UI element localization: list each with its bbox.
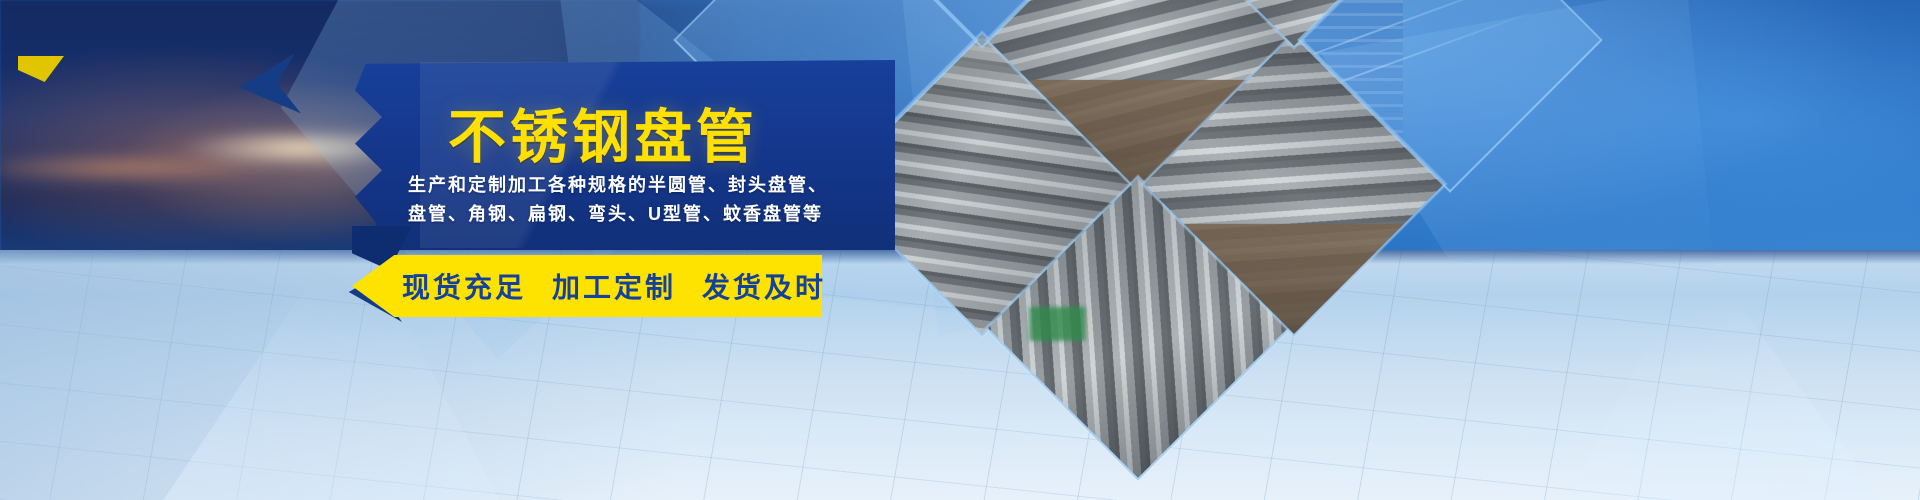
promo-banner: 不锈钢盘管 生产和定制加工各种规格的半圆管、封头盘管、 盘管、角钢、扁钢、弯头、…	[0, 0, 1920, 500]
slogan-item-1: 现货充足	[402, 266, 526, 306]
slogan-text-group: 现货充足 加工定制 发货及时	[402, 255, 826, 317]
banner-subtitle-line-1: 生产和定制加工各种规格的半圆管、封头盘管、	[408, 171, 828, 197]
slogan-ribbon: 现货充足 加工定制 发货及时	[352, 255, 822, 317]
diamond-photo-mosaic	[830, 0, 1490, 500]
slogan-item-3: 发货及时	[702, 266, 826, 306]
photo-green-accent	[1029, 308, 1085, 342]
banner-subtitle-line-2: 盘管、角钢、扁钢、弯头、U型管、蚊香盘管等	[408, 200, 823, 226]
banner-headline: 不锈钢盘管	[448, 90, 758, 174]
slogan-item-2: 加工定制	[552, 266, 676, 306]
